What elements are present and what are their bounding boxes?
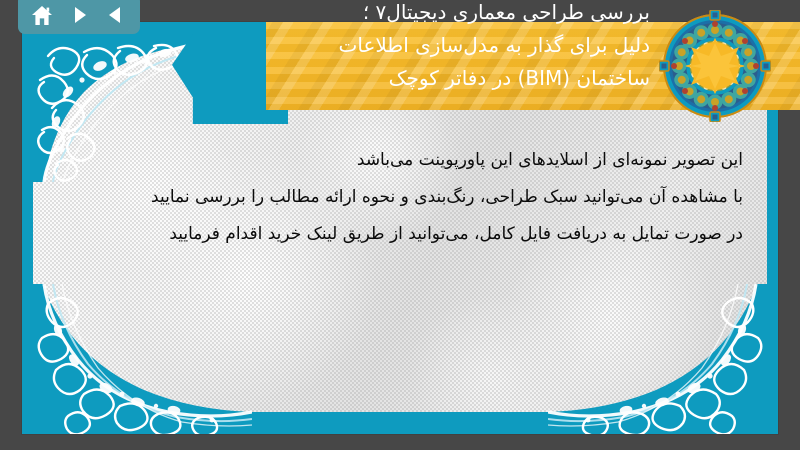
body-line-3: در صورت تمایل به دریافت فایل کامل، می‌تو… (63, 216, 743, 253)
title-line-2: دلیل برای گذار به مدل‌سازی اطلاعات (180, 29, 650, 62)
body-line-2: با مشاهده آن می‌توانید سبک طراحی، رنگ‌بن… (63, 179, 743, 216)
navigation-bar (18, 0, 140, 34)
slide-border-bottom (22, 412, 778, 434)
triangle-right-icon (69, 5, 89, 25)
slide-title: بررسی طراحی معماری دیجیتال۷ ؛ دلیل برای … (180, 0, 650, 95)
home-button[interactable] (27, 1, 57, 29)
app-window: این تصویر نمونه‌ای از اسلایدهای این پاور… (0, 0, 800, 450)
slide-border-left (22, 22, 33, 434)
home-icon (31, 5, 53, 26)
persian-medallion-icon (659, 10, 771, 122)
title-line-1: بررسی طراحی معماری دیجیتال۷ ؛ (180, 0, 650, 29)
back-button[interactable] (101, 1, 131, 29)
title-line-3: ساختمان (BIM) در دفاتر کوچک (180, 62, 650, 95)
slide-body-text: این تصویر نمونه‌ای از اسلایدهای این پاور… (63, 142, 743, 253)
body-line-1: این تصویر نمونه‌ای از اسلایدهای این پاور… (63, 142, 743, 179)
forward-button[interactable] (64, 1, 94, 29)
triangle-left-icon (106, 5, 126, 25)
